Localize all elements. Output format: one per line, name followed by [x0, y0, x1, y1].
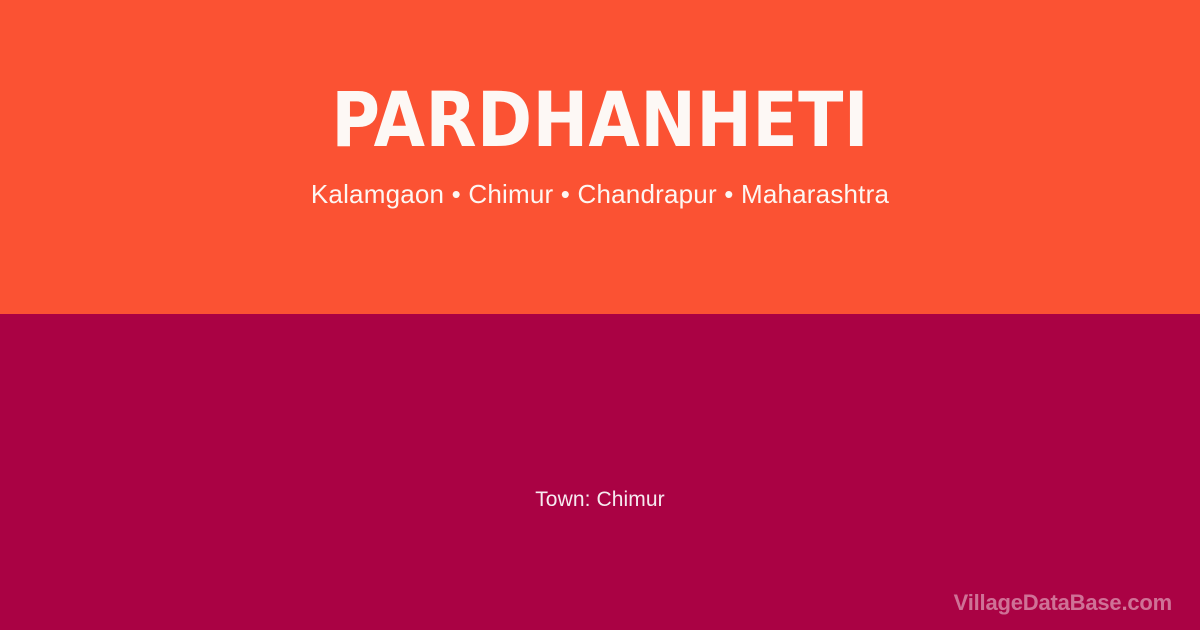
site-watermark: VillageDataBase.com [954, 592, 1172, 614]
page-title: PARDHANHETI [331, 82, 869, 158]
hero-banner: PARDHANHETI Kalamgaon • Chimur • Chandra… [0, 0, 1200, 314]
village-info-card: PARDHANHETI Kalamgaon • Chimur • Chandra… [0, 0, 1200, 630]
details-panel: Town: Chimur VillageDataBase.com [0, 314, 1200, 630]
fact-container: Town: Chimur [0, 314, 1200, 630]
town-fact: Town: Chimur [535, 487, 665, 513]
breadcrumb: Kalamgaon • Chimur • Chandrapur • Mahara… [311, 179, 889, 209]
